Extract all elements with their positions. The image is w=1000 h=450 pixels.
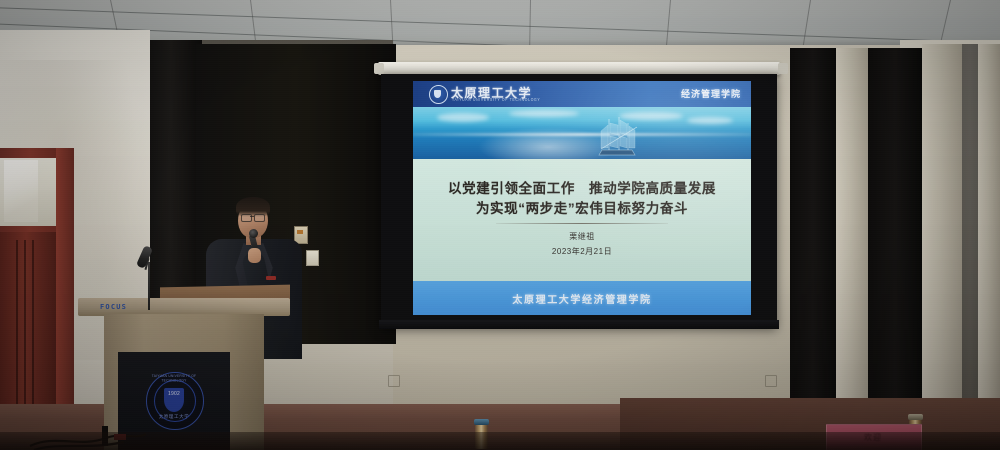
wall-pillar-b: [922, 44, 962, 406]
eyeglasses-bridge: [250, 216, 254, 217]
emblem-english-text: TAIYUAN UNIVERSITY OF TECHNOLOGY: [146, 373, 202, 383]
screen-housing-bracket-left: [374, 63, 384, 74]
speaker-hand: [248, 248, 261, 263]
screen-weight-bar: [379, 320, 779, 329]
slide-author-name: 栗继祖: [413, 231, 751, 242]
emblem-year: 1902: [164, 391, 184, 397]
stage-curtain-right-a: [790, 48, 836, 404]
wall-pillar-c: [978, 44, 1000, 406]
lecture-hall-photo: 太原理工大学 TAIYUAN UNIVERSITY OF TECHNOLOGY …: [0, 0, 1000, 450]
university-seal-icon: [429, 85, 448, 104]
slide-university-name-en: TAIYUAN UNIVERSITY OF TECHNOLOGY: [452, 97, 540, 102]
stage-front-shadow: [0, 432, 1000, 450]
screen-housing-bracket-right: [778, 63, 788, 74]
microphone-stand-pole: [148, 262, 150, 310]
stage-curtain-right-c: [962, 44, 978, 406]
panel-indicator-icon: [297, 230, 303, 234]
stage-curtain-right-b: [868, 48, 922, 404]
presentation-slide: 太原理工大学 TAIYUAN UNIVERSITY OF TECHNOLOGY …: [413, 81, 751, 315]
slide-title-line-2: 为实现“两步走”宏伟目标努力奋斗: [413, 197, 751, 217]
door-glass-reflection: [4, 160, 38, 222]
wall-pillar-a: [836, 48, 868, 404]
eyeglasses-icon: [254, 214, 265, 222]
slide-date: 2023年2月21日: [413, 246, 751, 257]
speaker-lapel-badge: [266, 276, 276, 280]
slide-hero-photo: [413, 107, 751, 159]
slide-divider-rule: [496, 223, 668, 224]
sailing-ship-icon: [589, 115, 643, 159]
wall-socket-left[interactable]: [388, 375, 400, 387]
slide-title-line-1: 以党建引领全面工作 推动学院高质量发展: [413, 177, 751, 197]
light-switch[interactable]: [306, 250, 319, 266]
emblem-chinese-text: 太原理工大学: [146, 414, 202, 420]
slide-footer-text: 太原理工大学经济管理学院: [413, 291, 751, 306]
wall-socket-right[interactable]: [765, 375, 777, 387]
microphone-head-icon: [249, 229, 258, 238]
slide-school-name: 经济管理学院: [681, 87, 741, 100]
podium-brand-label: FOCUS: [100, 303, 127, 311]
